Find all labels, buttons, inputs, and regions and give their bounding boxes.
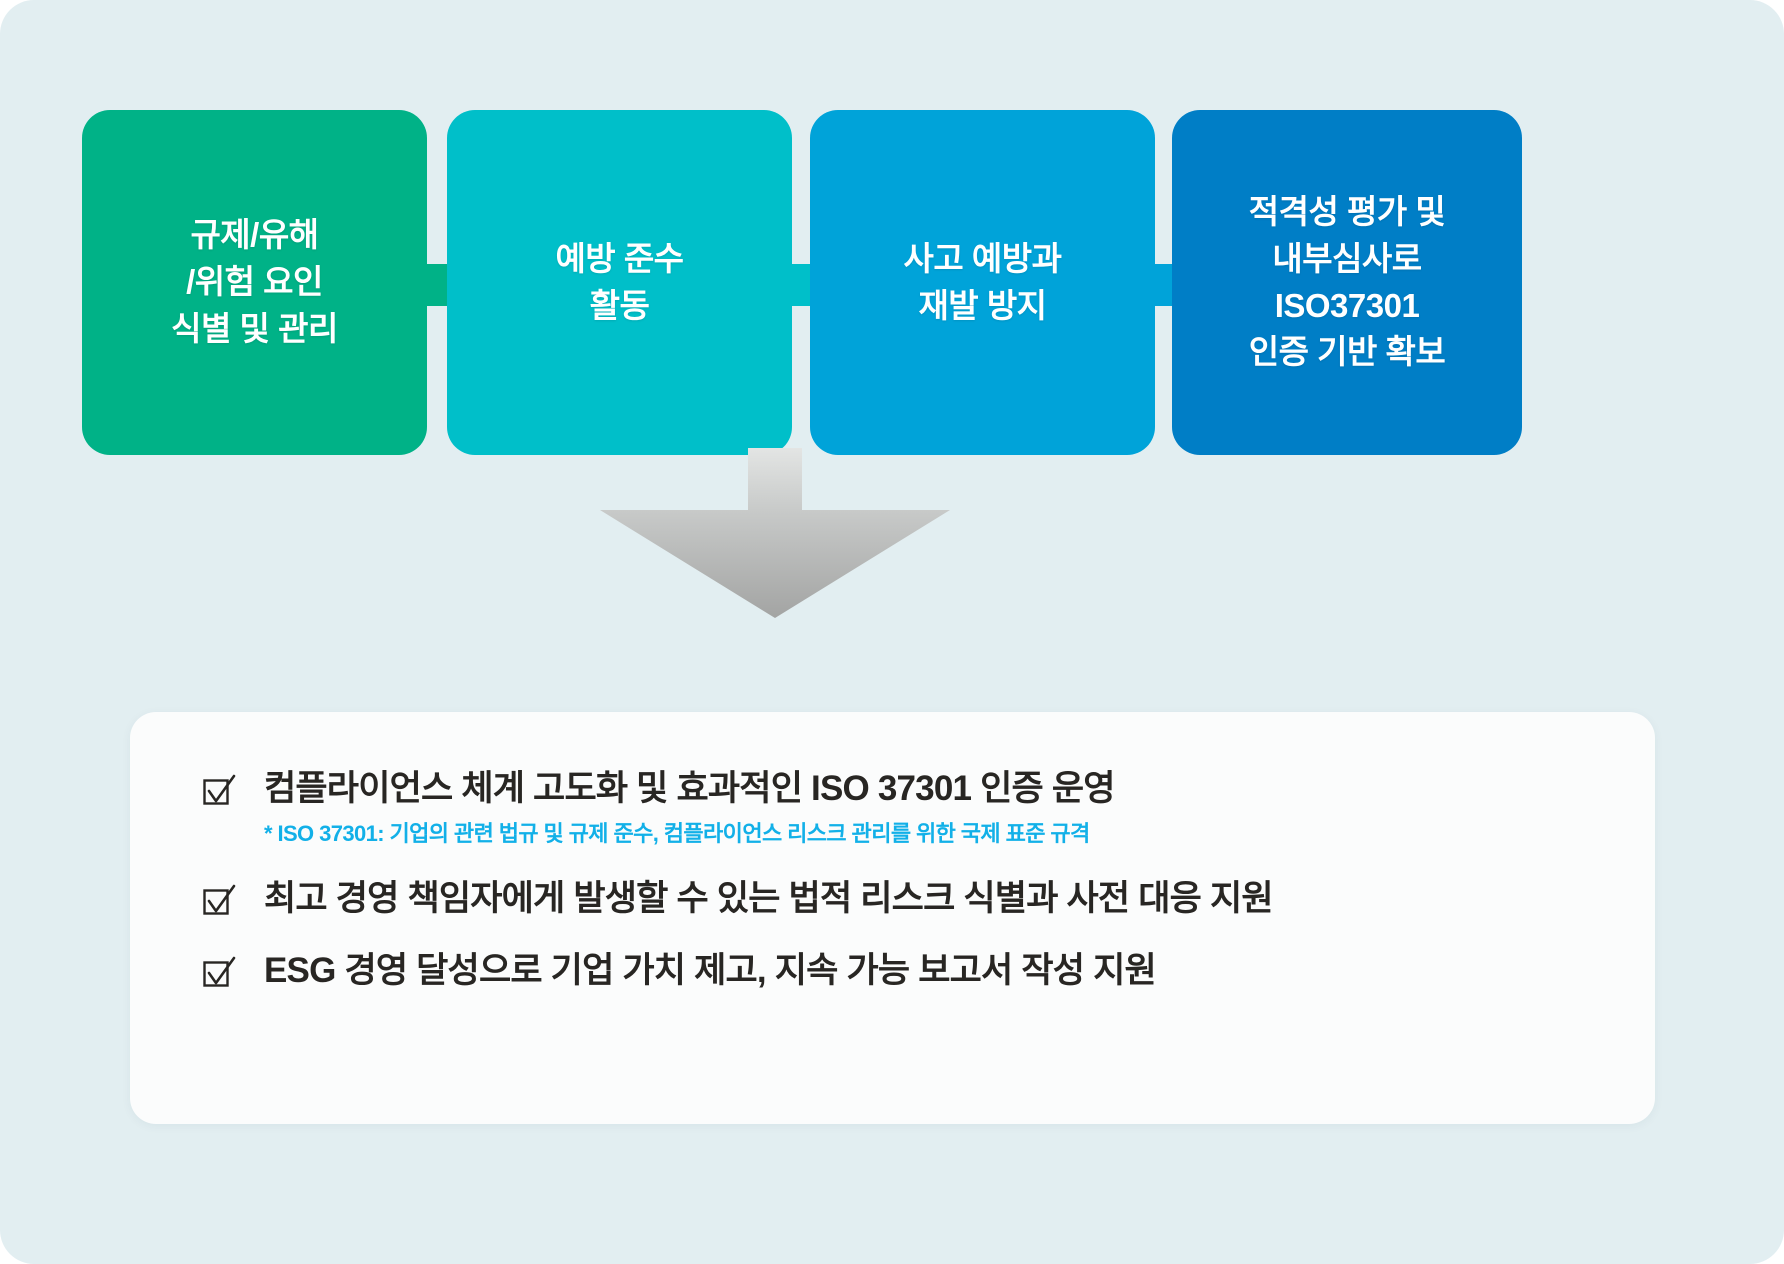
benefit-text: 최고 경영 책임자에게 발생할 수 있는 법적 리스크 식별과 사전 대응 지원 [264,876,1273,922]
benefit-text: 컴플라이언스 체계 고도화 및 효과적인 ISO 37301 인증 운영 [264,766,1115,812]
list-item: 컴플라이언스 체계 고도화 및 효과적인 ISO 37301 인증 운영 * I… [202,766,1615,848]
checkbox-checked-icon [202,956,236,990]
flow-step-label: 적격성 평가 및 내부심사로 ISO37301 인증 기반 확보 [1249,189,1446,376]
flow-step-label: 사고 예방과 재발 방지 [904,236,1062,330]
list-item: ESG 경영 달성으로 기업 가치 제고, 지속 가능 보고서 작성 지원 [202,948,1615,994]
benefits-card: 컴플라이언스 체계 고도화 및 효과적인 ISO 37301 인증 운영 * I… [130,712,1655,1124]
benefit-note: * ISO 37301: 기업의 관련 법규 및 규제 준수, 컴플라이언스 리… [264,819,1115,849]
flow-step-accident-prevention[interactable]: 사고 예방과 재발 방지 [810,110,1155,455]
flow-step-regulation-identification[interactable]: 규제/유해 /위험 요인 식별 및 관리 [82,110,427,455]
checkbox-checked-icon [202,774,236,808]
diagram-canvas: 규제/유해 /위험 요인 식별 및 관리 예방 준수 활동 사고 예방과 재발 … [0,0,1784,1264]
flow-step-prevention-compliance[interactable]: 예방 준수 활동 [447,110,792,455]
flow-step-label: 규제/유해 /위험 요인 식별 및 관리 [171,212,338,353]
flow-step-iso37301-certification[interactable]: 적격성 평가 및 내부심사로 ISO37301 인증 기반 확보 [1172,110,1522,455]
process-flow-row: 규제/유해 /위험 요인 식별 및 관리 예방 준수 활동 사고 예방과 재발 … [82,110,1702,455]
checkbox-checked-icon [202,884,236,918]
arrow-down-icon [600,448,950,618]
list-item: 최고 경영 책임자에게 발생할 수 있는 법적 리스크 식별과 사전 대응 지원 [202,876,1615,922]
flow-step-label: 예방 준수 활동 [555,236,683,330]
benefits-list: 컴플라이언스 체계 고도화 및 효과적인 ISO 37301 인증 운영 * I… [202,766,1615,993]
benefit-text: ESG 경영 달성으로 기업 가치 제고, 지속 가능 보고서 작성 지원 [264,948,1156,994]
